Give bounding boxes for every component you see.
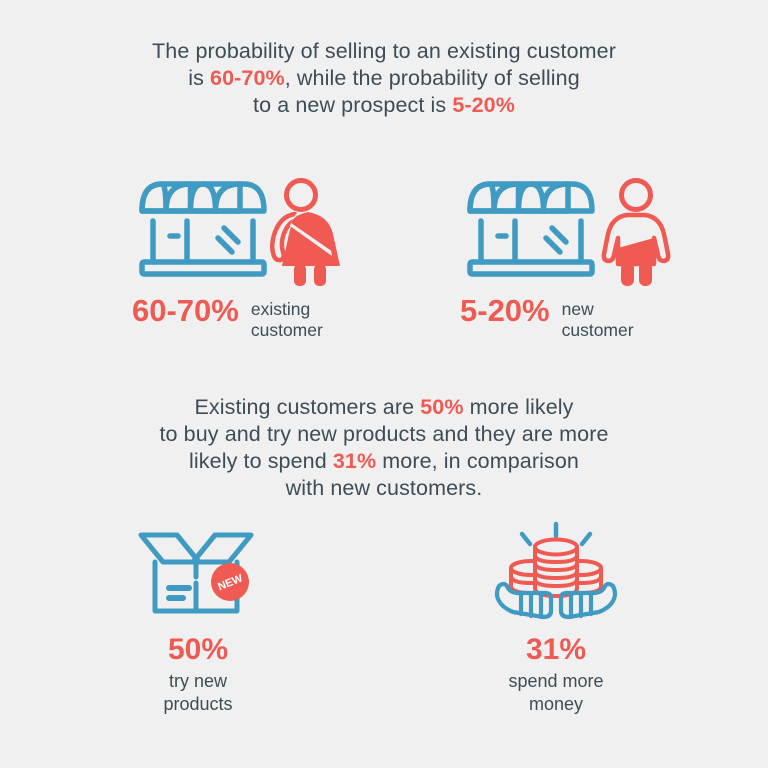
icon-pair-existing [132,176,362,286]
coin-stack-center [535,540,577,597]
stat-highlight-31: 31% [333,449,376,473]
headline-mid-line-3: likely to spend 31% more, in comparison [0,448,768,475]
headline-mid-line-2: to buy and try new products and they are… [0,421,768,448]
headline-top-line-2: is 60-70%, while the probability of sell… [0,65,768,92]
stat-highlight-50: 50% [420,395,463,419]
new-badge-icon: NEW [211,563,249,601]
card-label-spend: spend more money [446,670,666,716]
card-try-new-products: NEW 50% try new products [88,522,308,716]
headline-top-line-3: to a new prospect is 5-20% [0,92,768,119]
headline-middle: Existing customers are 50% more likely t… [0,394,768,502]
storefront-and-female-group [132,176,362,286]
female-customer-icon [272,181,340,287]
stat-highlight-5-20: 5-20% [452,93,515,117]
stat-block-existing-customer: 60-70% existing customer [132,176,362,341]
headline-mid-line-1: Existing customers are 50% more likely [0,394,768,421]
storefront-and-male-group [460,176,690,286]
icon-pair-new [460,176,690,286]
stat-block-new-customer: 5-20% new customer [460,176,690,341]
stat-label-existing: existing customer [251,299,323,341]
card-icon-wrapper-coins [446,522,666,622]
stat-percent-existing: 60-70% [132,294,239,328]
headline-mid-line-4: with new customers. [0,475,768,502]
headline-top-line-1: The probability of selling to an existin… [0,38,768,65]
headline-top: The probability of selling to an existin… [0,38,768,119]
storefront-icon [142,184,264,274]
card-percent-spend: 31% [446,632,666,668]
stat-percent-new: 5-20% [460,294,550,328]
card-percent-try-new: 50% [88,632,308,668]
card-spend-more-money: 31% spend more money [446,522,666,716]
male-customer-icon [604,181,668,287]
caption-existing: 60-70% existing customer [132,294,362,341]
open-box-icon: NEW [133,525,263,620]
card-icon-wrapper-box: NEW [88,522,308,622]
storefront-icon [470,184,592,274]
coins-in-hands-icon [491,522,621,622]
caption-new: 5-20% new customer [460,294,690,341]
stat-highlight-60-70: 60-70% [210,66,285,90]
stat-label-new: new customer [562,299,634,341]
card-label-try-new: try new products [88,670,308,716]
infographic-canvas: The probability of selling to an existin… [0,0,768,768]
